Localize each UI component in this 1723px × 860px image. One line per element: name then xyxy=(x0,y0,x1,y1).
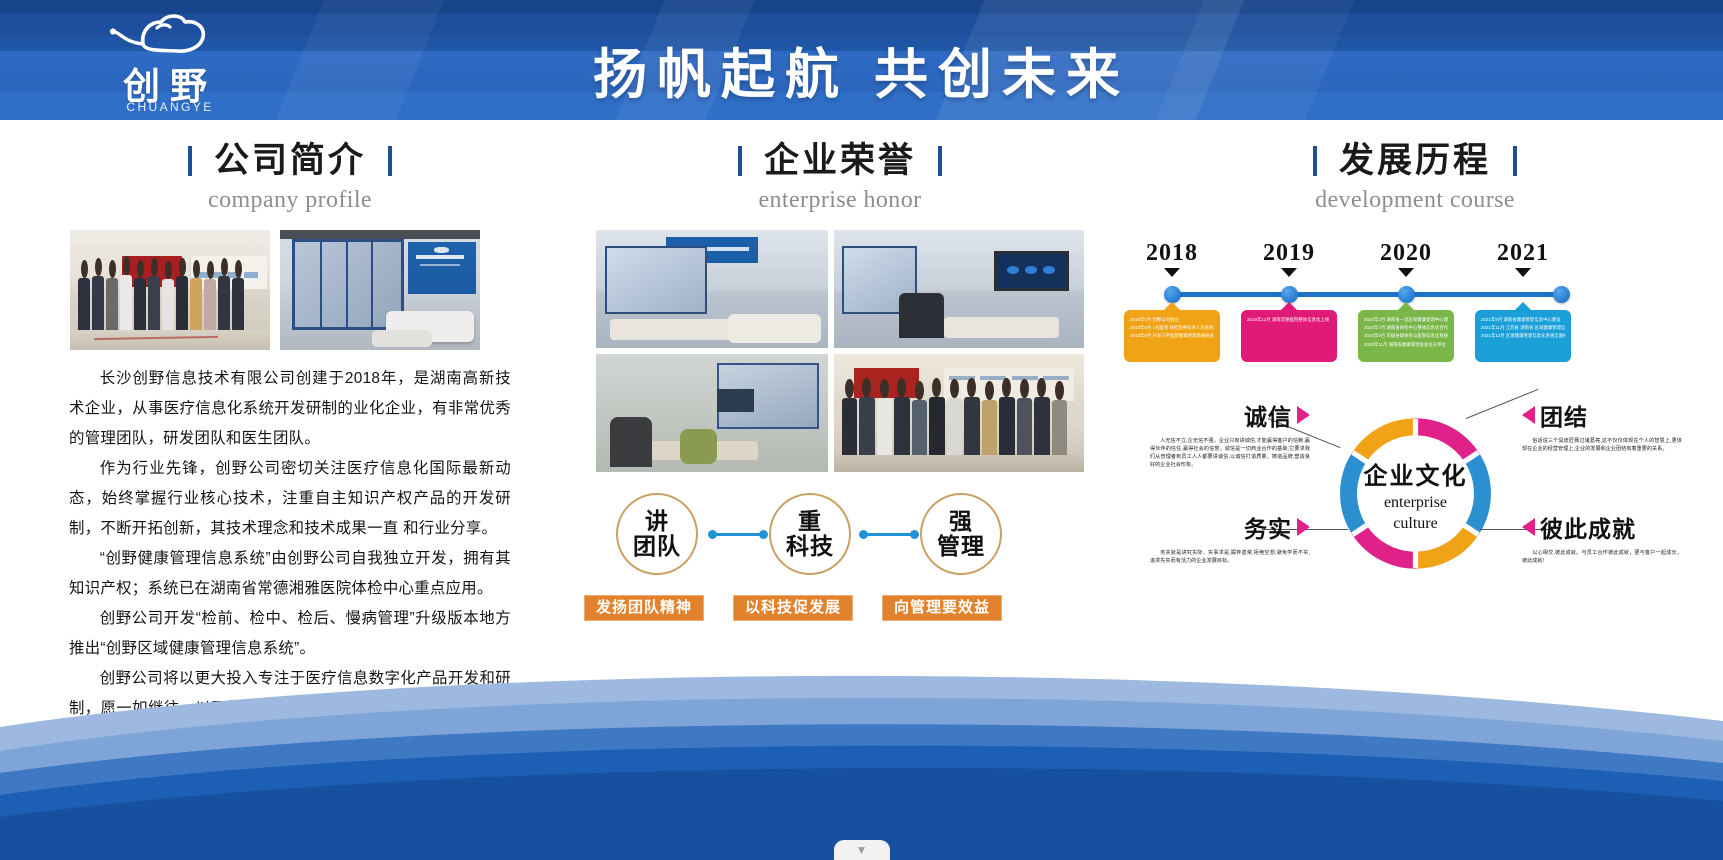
photo-bench xyxy=(372,330,432,347)
value-circle-line2: 科技 xyxy=(786,534,834,559)
timeline-dot xyxy=(1553,286,1570,303)
section-heading-company-profile: 公司简介 company profile xyxy=(55,142,525,214)
value-tag: 发扬团队精神 xyxy=(584,595,704,621)
timeline-dot xyxy=(1281,286,1298,303)
value-circle-team: 讲 团队 xyxy=(616,493,698,575)
value-tag: 向管理要效益 xyxy=(882,595,1002,621)
culture-item-body: 以心相交,彼此成就。与员工合作彼此成就，更与客户一起成长，彼此成就! xyxy=(1522,549,1682,565)
section-title-en: enterprise honor xyxy=(580,187,1100,214)
timeline-event: 2018年9月 开发三甲医院健康管理系统研发 xyxy=(1130,333,1214,339)
value-tags: 发扬团队精神 以科技促发展 向管理要效益 xyxy=(580,595,1100,629)
scroll-down-button[interactable]: ▼ xyxy=(834,840,890,860)
timeline-event: 2020年9月 市级县级体检与医院信息化系统共建 xyxy=(1364,333,1448,339)
culture-center-en-1: enterprise xyxy=(1338,493,1493,512)
open-workspace-photo xyxy=(596,354,828,472)
timeline-event: 2019年12月 湖南常德医院整体信息化上线 xyxy=(1247,317,1331,323)
poster-board: 创野 CHUANGYE 扬帆起航 共创未来 公司简介 company profi… xyxy=(0,0,1723,860)
timeline-axis xyxy=(1164,292,1570,297)
section-title-cn-wrap: 发展历程 xyxy=(1313,142,1517,181)
title-bar-left-icon xyxy=(1313,146,1317,176)
presentation-room-photo xyxy=(834,230,1084,348)
timeline-event: 2021年11月 江苏省 湖南省 区域健康管理信息系统推进 xyxy=(1481,325,1565,331)
culture-item-title: 诚信 xyxy=(1244,398,1292,432)
value-tag: 以科技促发展 xyxy=(733,595,853,621)
meeting-room-photo xyxy=(596,230,828,348)
section-title-cn: 企业荣誉 xyxy=(764,141,916,180)
photo-strip-left xyxy=(55,230,525,350)
timeline-caret-icon xyxy=(1239,268,1339,278)
section-title-en: company profile xyxy=(55,187,525,214)
value-circle-line2: 管理 xyxy=(937,534,985,559)
value-circle-tech: 重 科技 xyxy=(769,493,851,575)
culture-item-title: 务实 xyxy=(1244,510,1292,544)
arrow-left-icon xyxy=(1297,406,1310,424)
culture-item-integrity: 诚信 人无信不立,企无信不强。企业只有讲诚信,才能赢得客户的信赖,赢得伙伴的信任… xyxy=(1150,398,1310,469)
title-bar-right-icon xyxy=(1513,146,1517,176)
culture-item-title: 彼此成就 xyxy=(1540,510,1636,544)
section-title-cn-wrap: 企业荣誉 xyxy=(738,142,942,181)
timeline-card-2020: 2020年3月 湖南省一流区域健康管理中心建设 2020年7月 湖南省体检中心整… xyxy=(1358,310,1454,362)
title-bar-right-icon xyxy=(388,146,392,176)
timeline-event: 2020年11月 湖南省健康管理协会会员单位 xyxy=(1364,342,1448,348)
page-title: 扬帆起航 共创未来 xyxy=(0,30,1723,109)
paragraph: 作为行业先锋，创野公司密切关注医疗信息化国际最新动态，始终掌握行业核心技术，注重… xyxy=(69,454,511,544)
culture-item-title-row: 彼此成就 xyxy=(1522,510,1682,544)
poster-header: 创野 CHUANGYE 扬帆起航 共创未来 xyxy=(0,0,1723,120)
section-title-cn: 公司简介 xyxy=(214,141,366,180)
photo-grid-middle xyxy=(580,230,1100,475)
column-enterprise-honor: 企业荣誉 enterprise honor xyxy=(580,120,1100,629)
timeline-card-2019: 2019年12月 湖南常德医院整体信息化上线 xyxy=(1241,310,1337,362)
culture-center-en-2: culture xyxy=(1338,514,1493,533)
timeline-year: 2018 xyxy=(1122,240,1222,267)
culture-item-title-row: 诚信 xyxy=(1150,398,1310,432)
timeline-dot xyxy=(1164,286,1181,303)
timeline-dot xyxy=(1398,286,1415,303)
title-bar-right-icon xyxy=(938,146,942,176)
arrow-right-icon xyxy=(1522,518,1535,536)
section-title-cn: 发展历程 xyxy=(1339,141,1491,180)
development-timeline: 2018 2019 2020 2021 2018年7月 创野公司创立 2018年… xyxy=(1150,240,1680,388)
connector-line-1 xyxy=(710,533,766,536)
value-circle-line1: 重 xyxy=(798,509,822,534)
timeline-event: 2018年8月 1名医院 体检营养技术人员进院 xyxy=(1130,325,1214,331)
timeline-year: 2021 xyxy=(1473,240,1573,267)
section-title-en: development course xyxy=(1150,187,1680,214)
value-circle-line1: 讲 xyxy=(645,509,669,534)
value-circle-line2: 团队 xyxy=(633,534,681,559)
timeline-year: 2019 xyxy=(1239,240,1339,267)
staff-group-photo xyxy=(834,354,1084,472)
corporate-culture-diagram: 企业文化 enterprise culture 诚信 人无信不立,企无信不强。企… xyxy=(1150,398,1680,618)
team-group-photo-lobby xyxy=(70,230,270,350)
office-reception-photo xyxy=(280,230,480,350)
arrow-right-icon xyxy=(1522,406,1535,424)
culture-item-body: 人无信不立,企无信不强。企业只有讲诚信,才能赢得客户的信赖,赢得伙伴的信任,赢得… xyxy=(1150,437,1310,469)
paragraph: “创野健康管理信息系统”由创野公司自我独立开发，拥有其知识产权；系统已在湖南省常… xyxy=(69,544,511,604)
timeline-event: 2021年12月 区域健康管理信息化系统全面推广 xyxy=(1481,333,1565,339)
timeline-years: 2018 2019 2020 2021 xyxy=(1150,240,1680,276)
timeline-caret-icon xyxy=(1122,268,1222,278)
poster-content: 公司简介 company profile xyxy=(0,120,1723,680)
photo-ceiling xyxy=(280,230,480,240)
timeline-event: 2018年7月 创野公司创立 xyxy=(1130,317,1214,323)
timeline-event: 2021年6月 湖南省健康管理信息中心建设 xyxy=(1481,317,1565,323)
culture-item-title-row: 团结 xyxy=(1522,398,1682,432)
value-circle-line1: 强 xyxy=(949,509,973,534)
culture-center-cn: 企业文化 xyxy=(1338,456,1493,491)
timeline-caret-icon xyxy=(1356,268,1456,278)
photo-brand-panel xyxy=(408,242,476,295)
arrow-left-icon xyxy=(1297,518,1310,536)
culture-item-pragmatism: 务实 务实就是讲究实际、实事求是,摒弃虚荣,拒绝空想,避免学而不实,追求先实而有… xyxy=(1150,510,1310,565)
timeline-year: 2020 xyxy=(1356,240,1456,267)
wave-graphic-icon xyxy=(0,655,1723,860)
header-stripe-top xyxy=(0,0,1723,14)
title-bar-left-icon xyxy=(738,146,742,176)
column-development-course: 发展历程 development course 2018 2019 2020 2… xyxy=(1150,120,1680,618)
section-heading-development-course: 发展历程 development course xyxy=(1150,142,1680,214)
timeline-event: 2020年3月 湖南省一流区域健康管理中心建设 xyxy=(1364,317,1448,323)
culture-item-body: 务实就是讲究实际、实事求是,摒弃虚荣,拒绝空想,避免学而不实,追求先实而有活力的… xyxy=(1150,549,1310,565)
value-circle-management: 强 管理 xyxy=(920,493,1002,575)
culture-center-label: 企业文化 enterprise culture xyxy=(1338,456,1493,533)
paragraph: 长沙创野信息技术有限公司创建于2018年，是湖南高新技术企业，从事医疗信息化系统… xyxy=(69,364,511,454)
timeline-event: 2020年7月 湖南省体检中心整体信息化合作 xyxy=(1364,325,1448,331)
timeline-caret-icon xyxy=(1473,268,1573,278)
culture-item-title: 团结 xyxy=(1540,398,1588,432)
culture-item-unity: 团结 俗话说三个臭皮匠赛过诸葛亮,这不仅仅体现在个人的智慧上,更体现在企业的经营… xyxy=(1522,398,1682,453)
culture-item-title-row: 务实 xyxy=(1150,510,1310,544)
section-title-cn-wrap: 公司简介 xyxy=(188,142,392,181)
timeline-card-2021: 2021年6月 湖南省健康管理信息中心建设 2021年11月 江苏省 湖南省 区… xyxy=(1475,310,1571,362)
title-bar-left-icon xyxy=(188,146,192,176)
section-heading-enterprise-honor: 企业荣誉 enterprise honor xyxy=(580,142,1100,214)
poster-footer-waves: ▼ xyxy=(0,655,1723,860)
value-circles: 讲 团队 重 科技 强 管理 xyxy=(580,493,1100,585)
culture-item-mutual-achievement: 彼此成就 以心相交,彼此成就。与员工合作彼此成就，更与客户一起成长，彼此成就! xyxy=(1522,510,1682,565)
timeline-card-2018: 2018年7月 创野公司创立 2018年8月 1名医院 体检营养技术人员进院 2… xyxy=(1124,310,1220,362)
connector-line-2 xyxy=(861,533,917,536)
chevron-down-icon: ▼ xyxy=(856,844,868,856)
culture-item-body: 俗话说三个臭皮匠赛过诸葛亮,这不仅仅体现在个人的智慧上,更体现在企业的经营管理上… xyxy=(1522,437,1682,453)
